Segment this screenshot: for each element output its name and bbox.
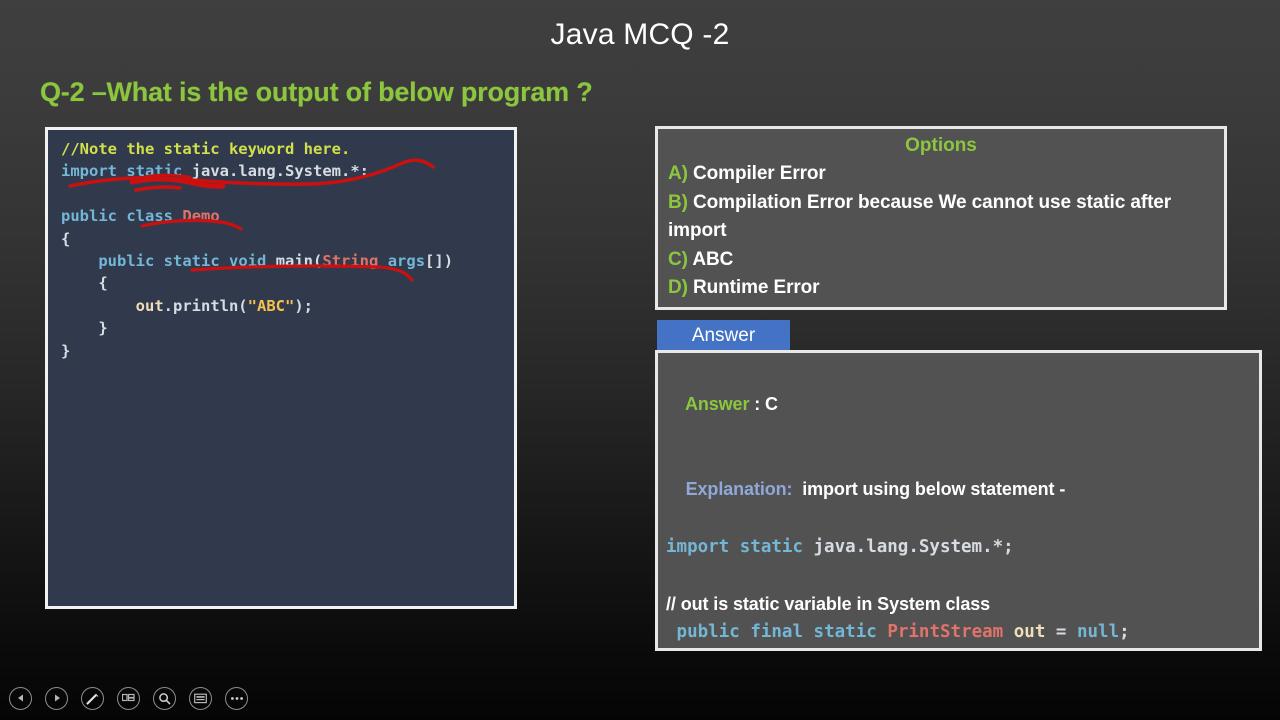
code-token: { bbox=[61, 274, 108, 292]
code-token: static bbox=[164, 252, 220, 270]
code-token: []) bbox=[425, 252, 453, 270]
code-token bbox=[266, 252, 275, 270]
code-token: java.lang.System.*; bbox=[182, 162, 369, 180]
code-token: { bbox=[61, 230, 70, 248]
zoom-button[interactable] bbox=[153, 687, 176, 710]
code-token bbox=[803, 622, 814, 642]
code-token: args bbox=[388, 252, 425, 270]
code-listing: //Note the static keyword here.import st… bbox=[61, 138, 453, 362]
explanation-panel: Answer : C Explanation: import using bel… bbox=[655, 350, 1262, 651]
code-token: class bbox=[126, 207, 173, 225]
code-token bbox=[154, 252, 163, 270]
code-token: public bbox=[98, 252, 154, 270]
more-options-button[interactable] bbox=[225, 687, 248, 710]
code-line: import static java.lang.System.*; bbox=[61, 160, 453, 182]
code-token: Demo bbox=[182, 207, 219, 225]
code-token: out bbox=[1014, 622, 1046, 642]
options-panel: Options A) Compiler ErrorB) Compilation … bbox=[655, 126, 1227, 310]
option-item[interactable]: A) Compiler Error bbox=[668, 160, 1214, 189]
grid-icon bbox=[122, 692, 135, 704]
triangle-left-icon bbox=[16, 693, 26, 703]
code-token: static bbox=[126, 162, 182, 180]
bottom-toolbar bbox=[0, 676, 1280, 720]
code-token: //Note the static keyword here. bbox=[61, 140, 350, 158]
menu-icon bbox=[194, 693, 207, 704]
code-token bbox=[666, 622, 677, 642]
code-token: main bbox=[276, 252, 313, 270]
option-letter: A) bbox=[668, 163, 693, 184]
option-item[interactable]: B) Compilation Error because We cannot u… bbox=[668, 189, 1214, 246]
answer-label: Answer bbox=[685, 394, 749, 414]
answer-value: : C bbox=[749, 394, 778, 414]
code-panel: //Note the static keyword here.import st… bbox=[45, 127, 517, 609]
question-heading: Q-2 –What is the output of below program… bbox=[40, 78, 593, 108]
option-text: Compilation Error because We cannot use … bbox=[668, 192, 1171, 242]
option-letter: B) bbox=[668, 192, 693, 213]
code-token: java.lang.System.*; bbox=[803, 537, 1014, 557]
next-slide-button[interactable] bbox=[45, 687, 68, 710]
explanation-label: Explanation: bbox=[686, 479, 793, 499]
code-line: public class Demo bbox=[61, 205, 453, 227]
code-token bbox=[61, 297, 136, 315]
code-line: } bbox=[61, 340, 453, 362]
code-token bbox=[173, 207, 182, 225]
explanation-code-line-1: import static java.lang.System.*; bbox=[666, 533, 1259, 562]
pen-tool-button[interactable] bbox=[81, 687, 104, 710]
code-token: } bbox=[61, 342, 70, 360]
options-list: A) Compiler ErrorB) Compilation Error be… bbox=[668, 160, 1214, 303]
code-token: "ABC" bbox=[248, 297, 295, 315]
code-token: } bbox=[61, 319, 108, 337]
option-item[interactable]: D) Runtime Error bbox=[668, 274, 1214, 303]
magnifier-icon bbox=[158, 692, 171, 705]
triangle-right-icon bbox=[52, 693, 62, 703]
answer-line: Answer : C bbox=[666, 361, 1259, 447]
code-token: static bbox=[740, 537, 803, 557]
code-token bbox=[1003, 622, 1014, 642]
code-token: String bbox=[322, 252, 378, 270]
code-line: public static void main(String args[]) bbox=[61, 250, 453, 272]
explanation-text: import using below statement - bbox=[792, 479, 1065, 499]
option-text: Runtime Error bbox=[693, 277, 819, 298]
code-token: public bbox=[61, 207, 117, 225]
code-token bbox=[61, 252, 98, 270]
notes-button[interactable] bbox=[189, 687, 212, 710]
code-line: //Note the static keyword here. bbox=[61, 138, 453, 160]
code-token bbox=[729, 537, 740, 557]
explanation-line: Explanation: import using below statemen… bbox=[666, 447, 1259, 533]
answer-button[interactable]: Answer bbox=[657, 320, 790, 351]
code-token: ; bbox=[1119, 622, 1130, 642]
code-token: null bbox=[1077, 622, 1119, 642]
slide-grid-button[interactable] bbox=[117, 687, 140, 710]
code-line: } bbox=[61, 317, 453, 339]
code-token: void bbox=[229, 252, 266, 270]
code-token bbox=[220, 252, 229, 270]
options-title: Options bbox=[668, 133, 1214, 159]
code-token: import bbox=[666, 537, 729, 557]
code-token: out bbox=[136, 297, 164, 315]
code-token bbox=[378, 252, 387, 270]
page-title: Java MCQ -2 bbox=[0, 20, 1280, 50]
code-line: { bbox=[61, 228, 453, 250]
ellipsis-icon bbox=[230, 696, 244, 701]
code-token: public bbox=[677, 622, 740, 642]
code-token: .println( bbox=[164, 297, 248, 315]
code-token bbox=[117, 162, 126, 180]
code-token: ( bbox=[313, 252, 322, 270]
spacer bbox=[666, 647, 1259, 651]
code-token bbox=[117, 207, 126, 225]
option-letter: C) bbox=[668, 249, 692, 270]
option-letter: D) bbox=[668, 277, 693, 298]
code-token: static bbox=[814, 622, 877, 642]
code-token: ); bbox=[294, 297, 313, 315]
pen-icon bbox=[85, 691, 100, 706]
code-line: out.println("ABC"); bbox=[61, 295, 453, 317]
option-item[interactable]: C) ABC bbox=[668, 246, 1214, 275]
code-line bbox=[61, 183, 453, 205]
code-token bbox=[877, 622, 888, 642]
code-line: { bbox=[61, 272, 453, 294]
explanation-code-line-2: public final static PrintStream out = nu… bbox=[666, 618, 1259, 647]
code-token bbox=[740, 622, 751, 642]
previous-slide-button[interactable] bbox=[9, 687, 32, 710]
code-token: PrintStream bbox=[887, 622, 1003, 642]
code-token: import bbox=[61, 162, 117, 180]
option-text: Compiler Error bbox=[693, 163, 826, 184]
spacer bbox=[666, 561, 1259, 590]
code-token: = bbox=[1045, 622, 1077, 642]
option-text: ABC bbox=[692, 249, 733, 270]
explanation-comment-1: // out is static variable in System clas… bbox=[666, 590, 1259, 619]
code-token: final bbox=[750, 622, 803, 642]
